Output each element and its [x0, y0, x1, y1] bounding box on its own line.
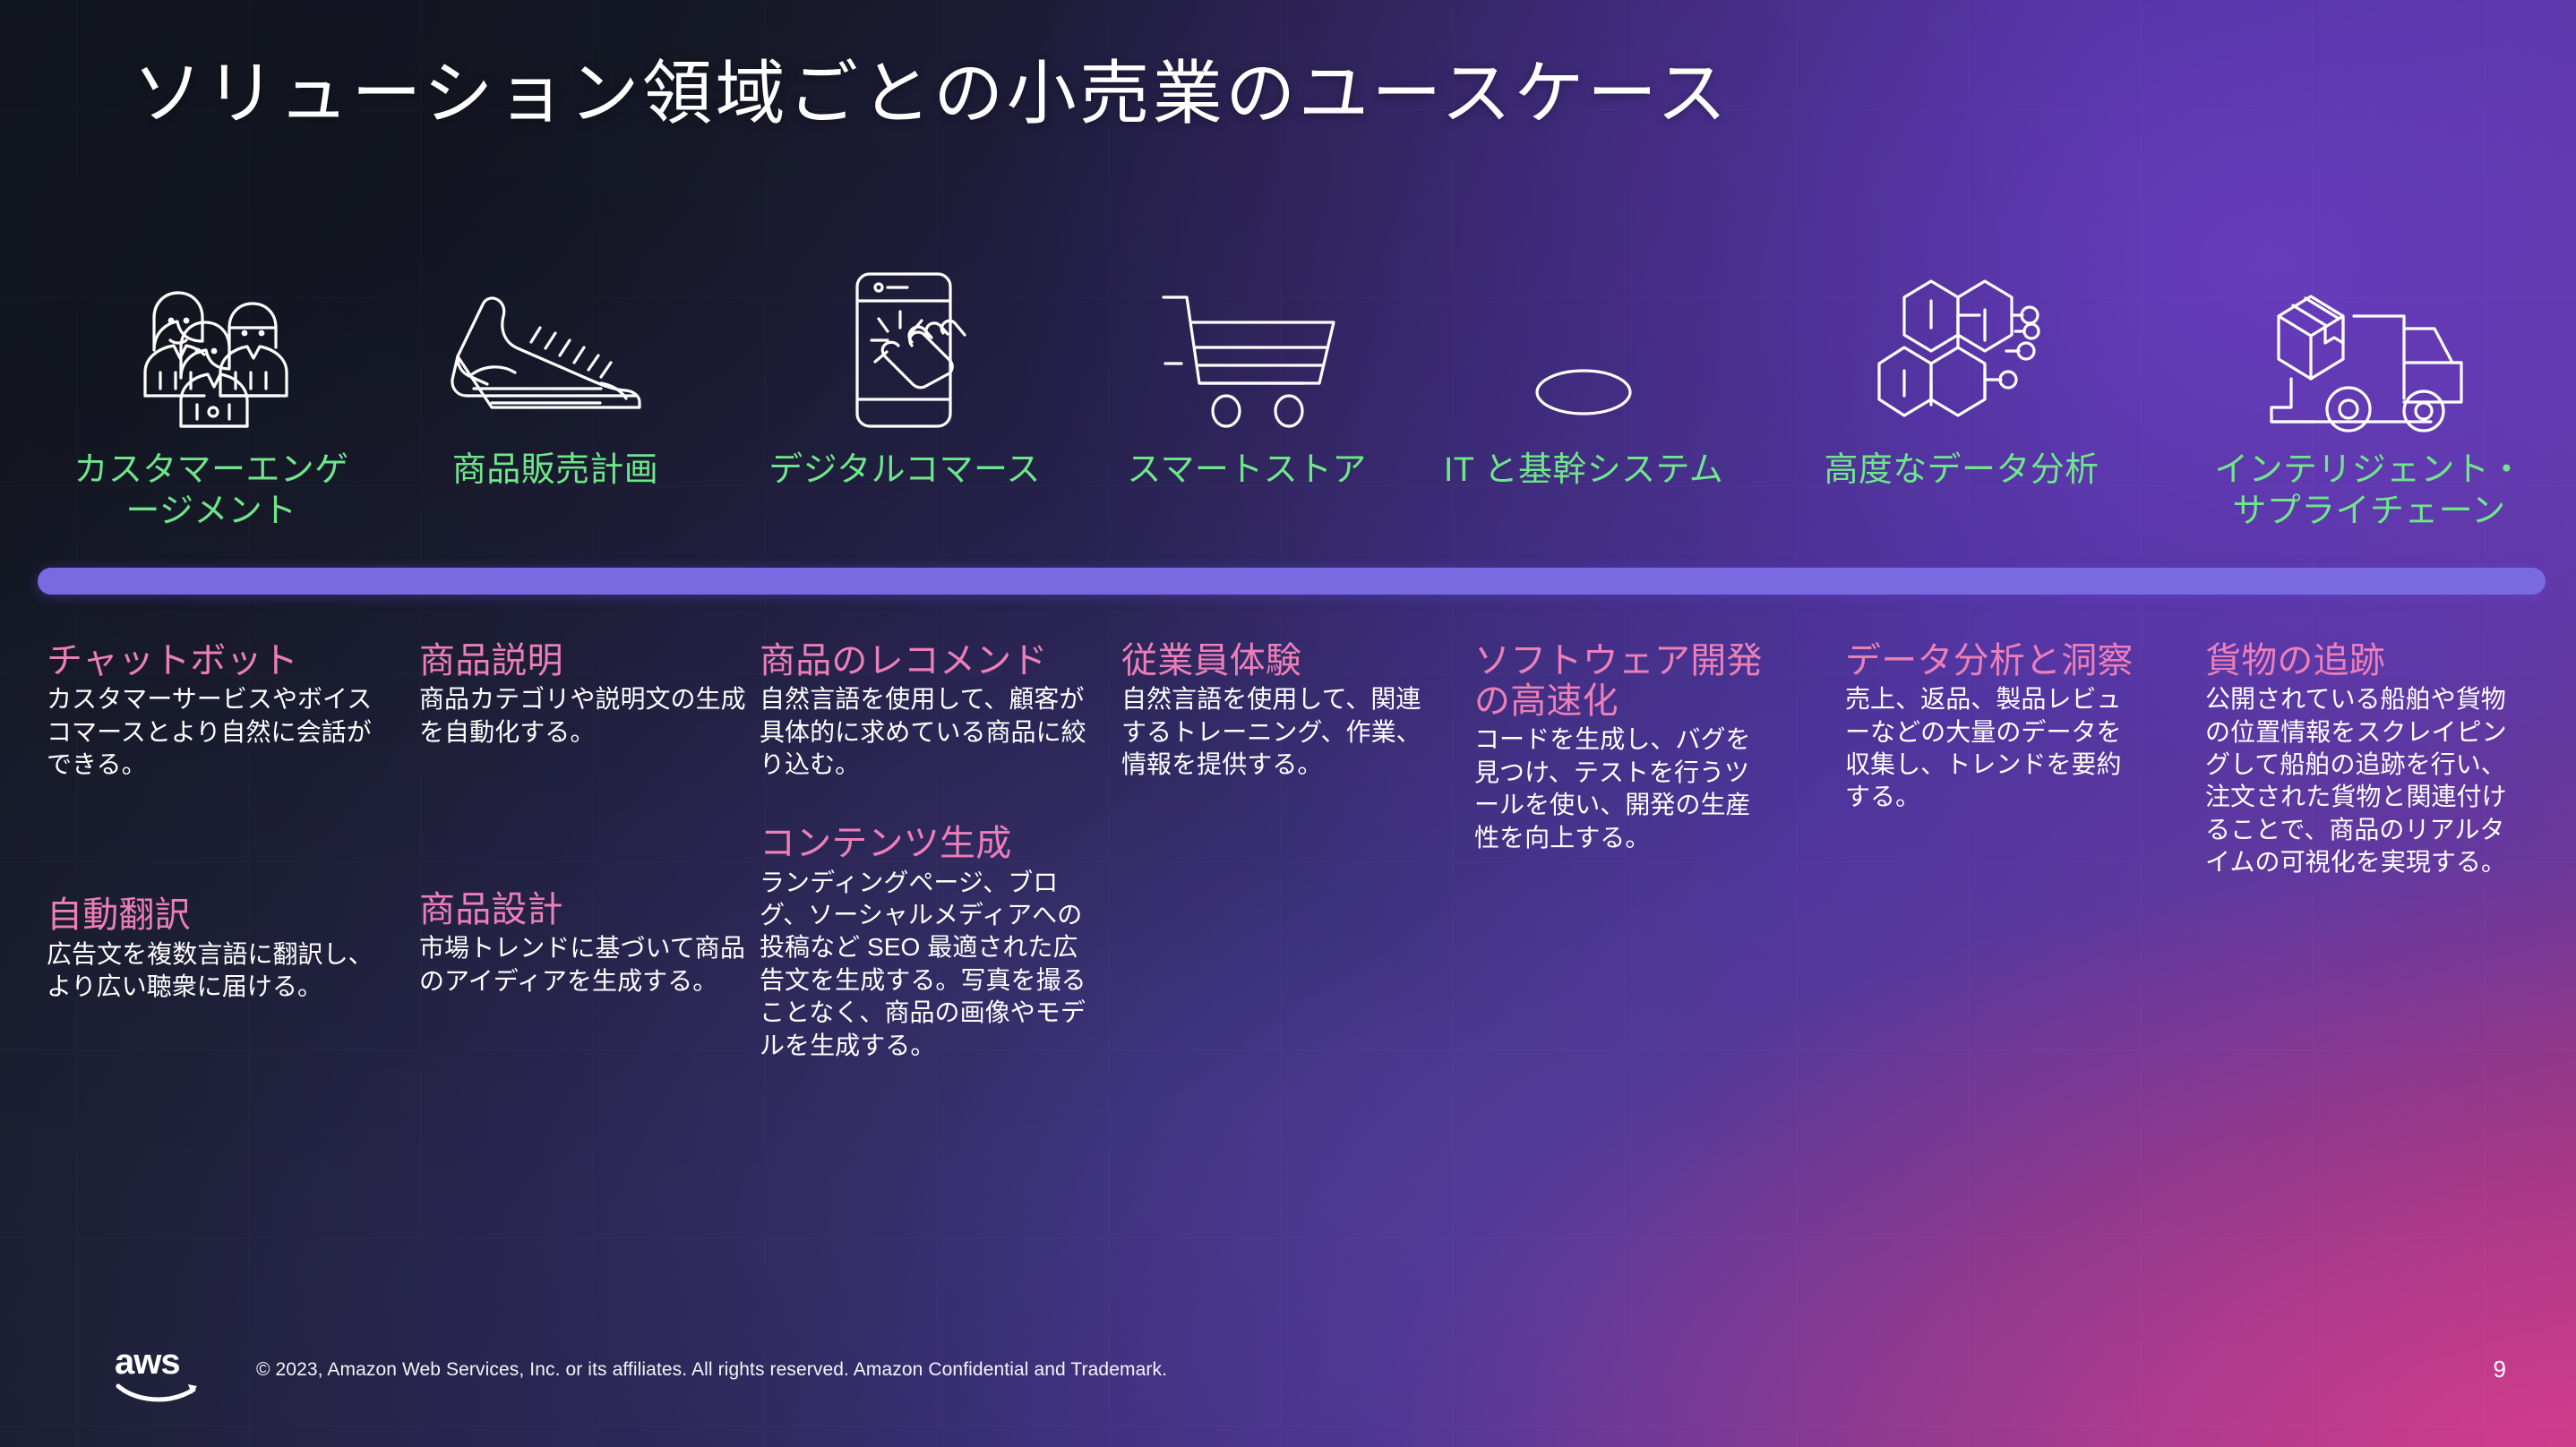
usecase-heading: コンテンツ生成	[760, 824, 1102, 864]
usecase-body: ランディングページ、ブログ、ソーシャルメディアへの投稿など SEO 最適された広…	[760, 867, 1102, 1062]
usecase-heading: 従業員体験	[1121, 641, 1428, 681]
usecase-column-5: ソフトウェア開発の高速化 コードを生成し、バグを見つけ、テストを行うツールを使い…	[1474, 641, 1770, 881]
usecase-column-4: 従業員体験 自然言語を使用して、関連するトレーニング、作業、情報を提供する。	[1121, 641, 1428, 808]
usecase-column-6: データ分析と洞察 売上、返品、製品レビューなどの大量のデータを収集し、トレンドを…	[1845, 641, 2141, 841]
category-label: インテリジェント・ サプライチェーン	[2168, 450, 2571, 533]
usecase-heading: 商品設計	[419, 890, 751, 930]
usecase-body: 公開されている船舶や貨物の位置情報をスクレイピングして船舶の追跡を行い、注文され…	[2205, 683, 2526, 878]
usecase-body: 市場トレンドに基づいて商品のアイディアを生成する。	[419, 932, 751, 997]
usecase-heading: チャットボット	[47, 641, 396, 681]
category-customer-engagement[interactable]: カスタマーエンゲ ージメント	[23, 256, 399, 533]
smartphone-tap-icon	[717, 256, 1093, 435]
usecase-card[interactable]: 貨物の追跡 公開されている船舶や貨物の位置情報をスクレイピングして船舶の追跡を行…	[2205, 641, 2526, 879]
usecase-heading: 商品説明	[419, 641, 751, 681]
usecase-body: 商品カテゴリや説明文の生成を自動化する。	[419, 683, 751, 749]
category-row: カスタマーエンゲ ージメント 商品販売計画	[0, 256, 2576, 561]
usecase-column-7: 貨物の追跡 公開されている船舶や貨物の位置情報をスクレイピングして船舶の追跡を行…	[2205, 641, 2526, 906]
svg-text:aws: aws	[115, 1343, 180, 1382]
section-divider-bar	[38, 568, 2546, 595]
usecase-column-2: 商品説明 商品カテゴリや説明文の生成を自動化する。 商品設計 市場トレンドに基づ…	[419, 641, 751, 1024]
usecase-heading: 自動翻訳	[47, 895, 396, 936]
usecase-body: 広告文を複数言語に翻訳し、より広い聴衆に届ける。	[47, 938, 396, 1004]
category-label: IT と基幹システム	[1395, 450, 1772, 491]
page-number: 9	[2494, 1356, 2506, 1383]
category-label: カスタマーエンゲ ージメント	[23, 450, 399, 533]
category-merchandise-planning[interactable]: 商品販売計画	[385, 256, 726, 491]
people-group-icon	[23, 256, 399, 435]
usecase-column-3: 商品のレコメンド 自然言語を使用して、顧客が具体的に求めている商品に絞り込む。 …	[760, 641, 1102, 1089]
usecase-card[interactable]: 商品説明 商品カテゴリや説明文の生成を自動化する。	[419, 641, 751, 749]
category-digital-commerce[interactable]: デジタルコマース	[717, 256, 1093, 491]
usecase-card[interactable]: ソフトウェア開発の高速化 コードを生成し、バグを見つけ、テストを行うツールを使い…	[1474, 641, 1770, 854]
category-label: スマートストア	[1086, 450, 1408, 491]
usecase-heading: データ分析と洞察	[1845, 641, 2141, 681]
category-label: デジタルコマース	[717, 450, 1093, 491]
usecase-body: 自然言語を使用して、関連するトレーニング、作業、情報を提供する。	[1121, 683, 1428, 781]
usecase-card[interactable]: 商品設計 市場トレンドに基づいて商品のアイディアを生成する。	[419, 890, 751, 997]
usecase-columns: チャットボット カスタマーサービスやボイスコマースとより自然に会話ができる。 自…	[0, 641, 2576, 1322]
shoe-icon	[385, 256, 726, 435]
usecase-card[interactable]: チャットボット カスタマーサービスやボイスコマースとより自然に会話ができる。	[47, 641, 396, 781]
usecase-card[interactable]: コンテンツ生成 ランディングページ、ブログ、ソーシャルメディアへの投稿など SE…	[760, 824, 1102, 1062]
page-title: ソリューション領域ごとの小売業のユースケース	[133, 56, 1730, 131]
category-label: 高度なデータ分析	[1773, 450, 2150, 491]
category-smart-store[interactable]: スマートストア	[1086, 256, 1408, 491]
shopping-cart-icon	[1086, 256, 1408, 435]
usecase-card[interactable]: 自動翻訳 広告文を複数言語に翻訳し、より広い聴衆に届ける。	[47, 895, 396, 1003]
usecase-body: 売上、返品、製品レビューなどの大量のデータを収集し、トレンドを要約する。	[1845, 683, 2141, 814]
slide-canvas: ソリューション領域ごとの小売業のユースケース	[0, 0, 2576, 1447]
usecase-card[interactable]: データ分析と洞察 売上、返品、製品レビューなどの大量のデータを収集し、トレンドを…	[1845, 641, 2141, 814]
delivery-truck-box-icon	[2168, 256, 2571, 435]
usecase-heading: ソフトウェア開発の高速化	[1474, 641, 1770, 722]
ellipse-icon	[1395, 256, 1772, 435]
usecase-heading: 商品のレコメンド	[760, 641, 1102, 681]
category-it-core-systems[interactable]: IT と基幹システム	[1395, 256, 1772, 491]
usecase-card[interactable]: 商品のレコメンド 自然言語を使用して、顧客が具体的に求めている商品に絞り込む。	[760, 641, 1102, 781]
category-advanced-analytics[interactable]: 高度なデータ分析	[1773, 256, 2150, 491]
category-intelligent-supply-chain[interactable]: インテリジェント・ サプライチェーン	[2168, 256, 2571, 533]
usecase-body: コードを生成し、バグを見つけ、テストを行うツールを使い、開発の生産性を向上する。	[1474, 723, 1770, 854]
copyright-text: © 2023, Amazon Web Services, Inc. or its…	[256, 1359, 1167, 1381]
usecase-body: カスタマーサービスやボイスコマースとより自然に会話ができる。	[47, 683, 396, 781]
aws-logo: aws	[113, 1343, 213, 1406]
hexagon-network-icon	[1773, 256, 2150, 435]
usecase-column-1: チャットボット カスタマーサービスやボイスコマースとより自然に会話ができる。 自…	[47, 641, 396, 1030]
category-label: 商品販売計画	[385, 450, 726, 491]
usecase-heading: 貨物の追跡	[2205, 641, 2526, 681]
usecase-body: 自然言語を使用して、顧客が具体的に求めている商品に絞り込む。	[760, 683, 1102, 781]
usecase-card[interactable]: 従業員体験 自然言語を使用して、関連するトレーニング、作業、情報を提供する。	[1121, 641, 1428, 781]
